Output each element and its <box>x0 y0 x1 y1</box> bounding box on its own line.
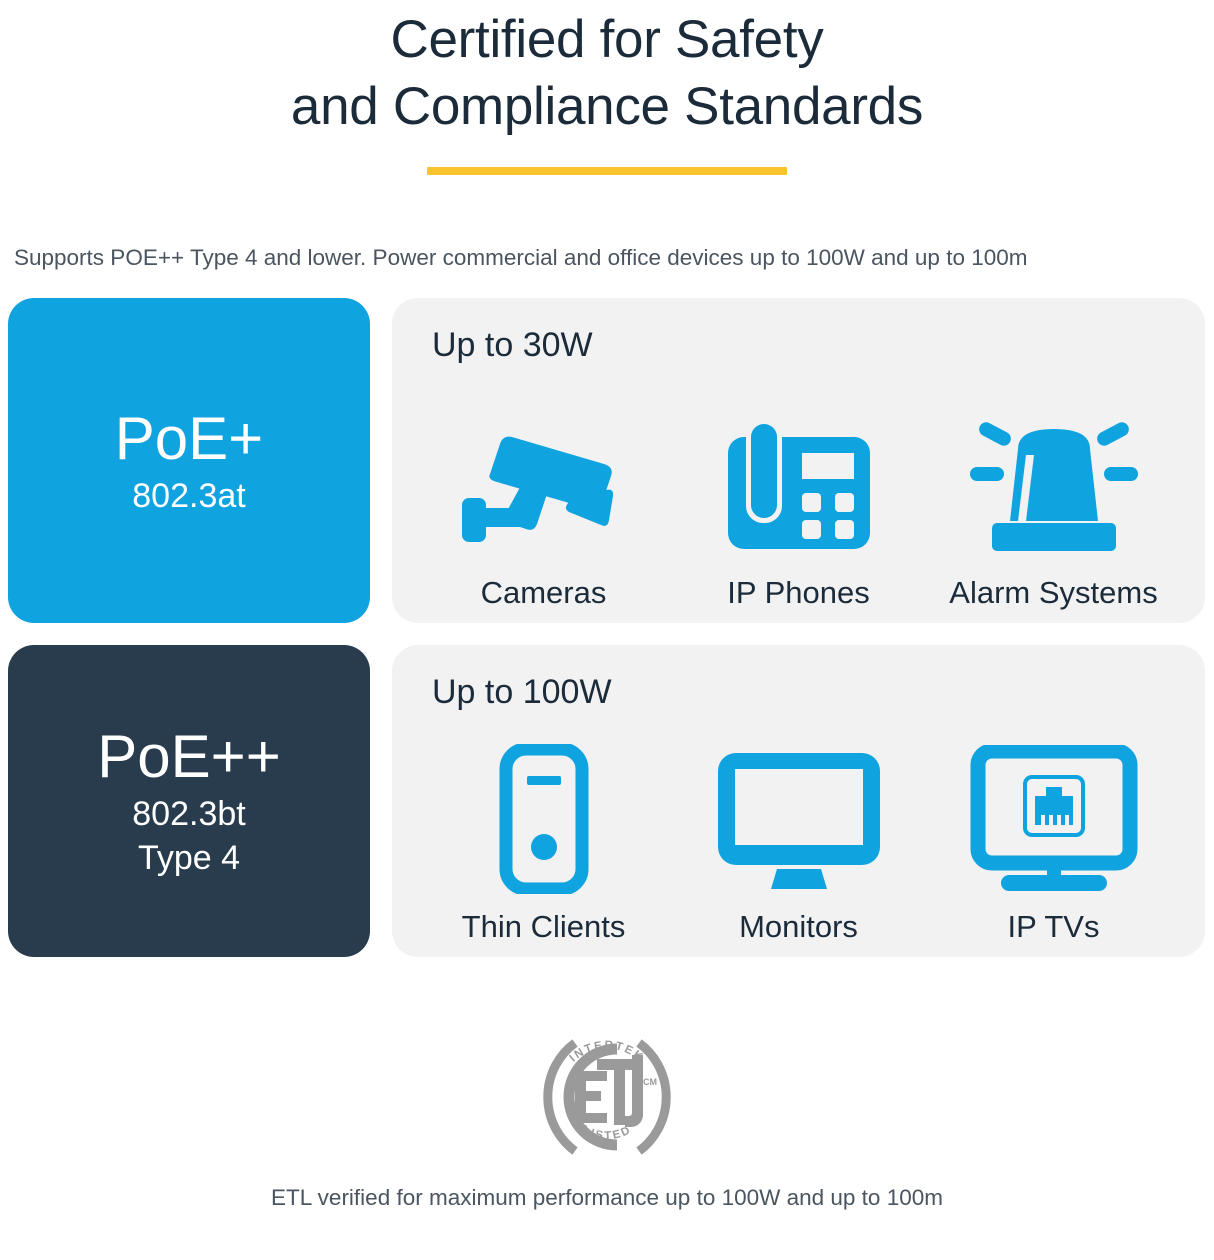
standards-grid: PoE+ 802.3at Up to 30W <box>0 298 1214 957</box>
standard-badge-poe-plus-plus: PoE++ 802.3bt Type 4 <box>8 645 370 957</box>
etl-listed-intertek-badge: INTERTEK LISTED CM <box>531 1023 683 1168</box>
device-item: Cameras <box>416 409 671 613</box>
page-header: Certified for Safety and Compliance Stan… <box>0 0 1214 175</box>
device-label: Monitors <box>739 907 858 947</box>
standard-spec: 802.3at <box>132 475 245 517</box>
page-title-line-1: Certified for Safety <box>0 6 1214 73</box>
standard-row-poe-plus: PoE+ 802.3at Up to 30W <box>8 298 1180 623</box>
standard-name: PoE+ <box>115 405 263 473</box>
standard-spec-type: Type 4 <box>138 837 240 879</box>
page-title-line-2: and Compliance Standards <box>0 73 1214 140</box>
panel-power-heading: Up to 30W <box>410 324 1187 366</box>
device-list: Thin Clients Monitors <box>410 713 1187 947</box>
standard-row-poe-plus-plus: PoE++ 802.3bt Type 4 Up to 100W Thin Cli… <box>8 645 1180 957</box>
security-camera-icon <box>454 409 634 561</box>
device-label: Alarm Systems <box>949 573 1157 613</box>
standard-spec: 802.3bt <box>132 793 245 835</box>
device-label: Cameras <box>481 573 607 613</box>
device-panel-100w: Up to 100W Thin Clients <box>392 645 1205 957</box>
device-list: Cameras <box>410 366 1187 613</box>
monitor-icon <box>714 743 884 895</box>
subtitle-text: Supports POE++ Type 4 and lower. Power c… <box>0 244 1214 272</box>
device-item: Alarm Systems <box>926 409 1181 613</box>
device-item: Thin Clients <box>416 743 671 947</box>
badge-superscript: CM <box>643 1077 657 1087</box>
title-accent-rule <box>427 167 787 175</box>
alarm-siren-icon <box>964 409 1144 561</box>
certification-note: ETL verified for maximum performance up … <box>271 1184 943 1212</box>
device-panel-30w: Up to 30W <box>392 298 1205 623</box>
device-label: IP TVs <box>1008 907 1100 947</box>
device-item: IP TVs <box>926 743 1181 947</box>
device-label: IP Phones <box>727 573 869 613</box>
ip-tv-icon <box>969 743 1139 895</box>
standard-badge-poe-plus: PoE+ 802.3at <box>8 298 370 623</box>
device-label: Thin Clients <box>462 907 626 947</box>
device-item: IP Phones <box>671 409 926 613</box>
standard-name: PoE++ <box>97 723 281 791</box>
certification-footer: INTERTEK LISTED CM ETL verified for maxi… <box>0 1023 1214 1212</box>
panel-power-heading: Up to 100W <box>410 671 1187 713</box>
device-item: Monitors <box>671 743 926 947</box>
thin-client-tower-icon <box>499 743 589 895</box>
desk-phone-icon <box>724 409 874 561</box>
